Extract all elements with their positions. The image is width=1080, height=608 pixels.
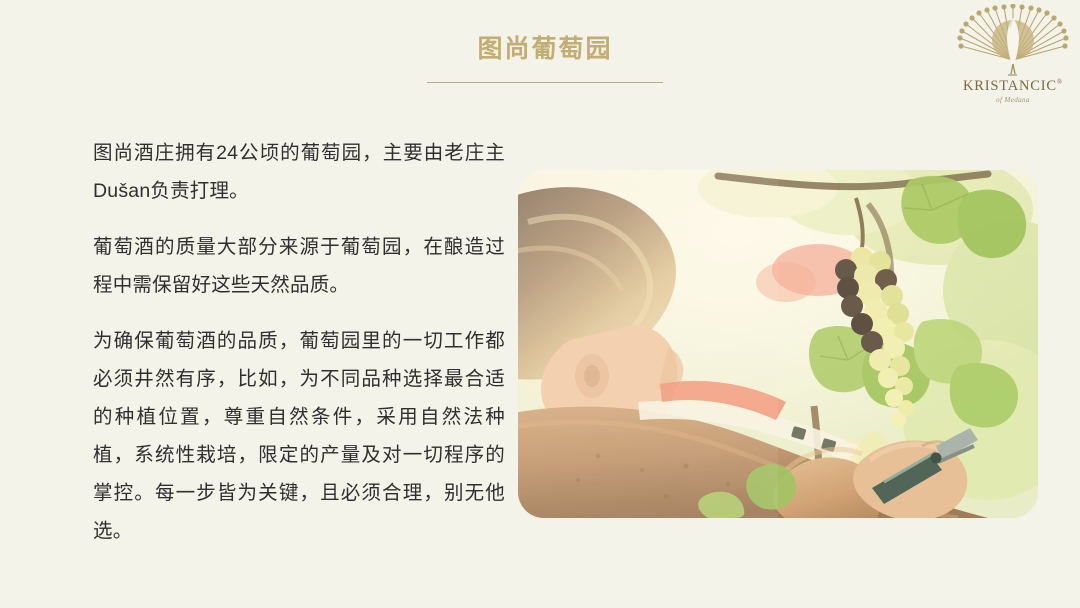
photo-illustration xyxy=(518,170,1038,518)
logo-tagline: of Medana xyxy=(954,97,1072,104)
paragraph: 葡萄酒的质量大部分来源于葡萄园，在酿造过程中需保留好这些天然品质。 xyxy=(93,228,505,304)
slide-canvas: KRISTANCIC® of Medana 图尚葡萄园 图尚酒庄拥有24公顷的葡… xyxy=(0,0,1080,608)
paragraph: 图尚酒庄拥有24公顷的葡萄园，主要由老庄主Dušan负责打理。 xyxy=(93,134,505,210)
title-divider xyxy=(427,82,663,83)
title-block: 图尚葡萄园 xyxy=(0,36,1080,83)
page-title: 图尚葡萄园 xyxy=(10,36,1080,64)
paragraph: 为确保葡萄酒的品质，葡萄园里的一切工作都必须井然有序，比如，为不同品种选择最合适… xyxy=(93,322,505,550)
vineyard-harvest-photo xyxy=(518,170,1038,518)
body-text-block: 图尚酒庄拥有24公顷的葡萄园，主要由老庄主Dušan负责打理。 葡萄酒的质量大部… xyxy=(93,134,505,550)
